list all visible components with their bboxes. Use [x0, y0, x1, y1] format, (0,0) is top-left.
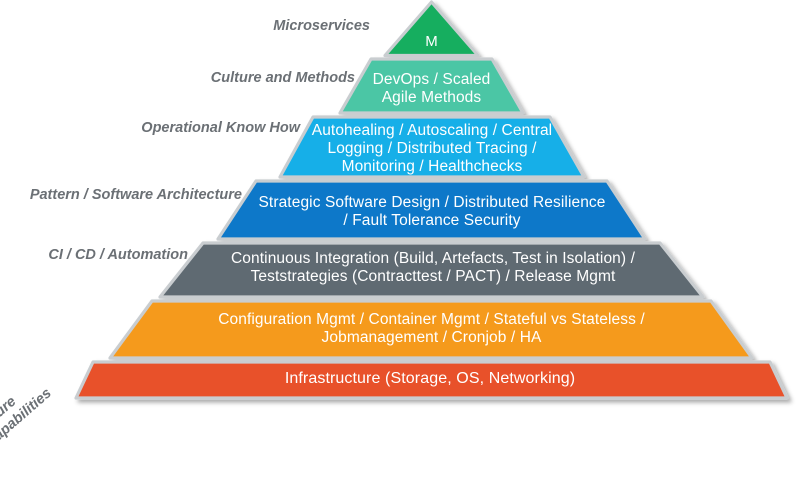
side-label-microservices: Microservices: [155, 18, 370, 35]
level-shape-infrastructure-cloud-capabilities[interactable]: [110, 301, 752, 358]
side-label-ci-cd-automation: CI / CD / Automation: [10, 247, 188, 264]
level-shape-ci-cd-automation[interactable]: [160, 243, 703, 297]
side-label-pattern-software-architecture: Pattern / Software Architecture: [10, 187, 242, 204]
pyramid-diagram: M DevOps / Scaled Agile Methods Autoheal…: [0, 0, 797, 410]
level-shape-culture-and-methods[interactable]: [340, 59, 523, 113]
pyramid-shapes: [0, 0, 797, 410]
level-shape-infrastructure[interactable]: [76, 362, 787, 398]
level-shape-microservices[interactable]: [385, 2, 478, 56]
level-shape-operational-know-how[interactable]: [280, 117, 584, 177]
level-shape-pattern-software-architecture[interactable]: [218, 181, 645, 239]
side-label-operational-know-how: Operational Know How: [90, 120, 300, 137]
side-label-culture-and-methods: Culture and Methods: [140, 70, 355, 87]
